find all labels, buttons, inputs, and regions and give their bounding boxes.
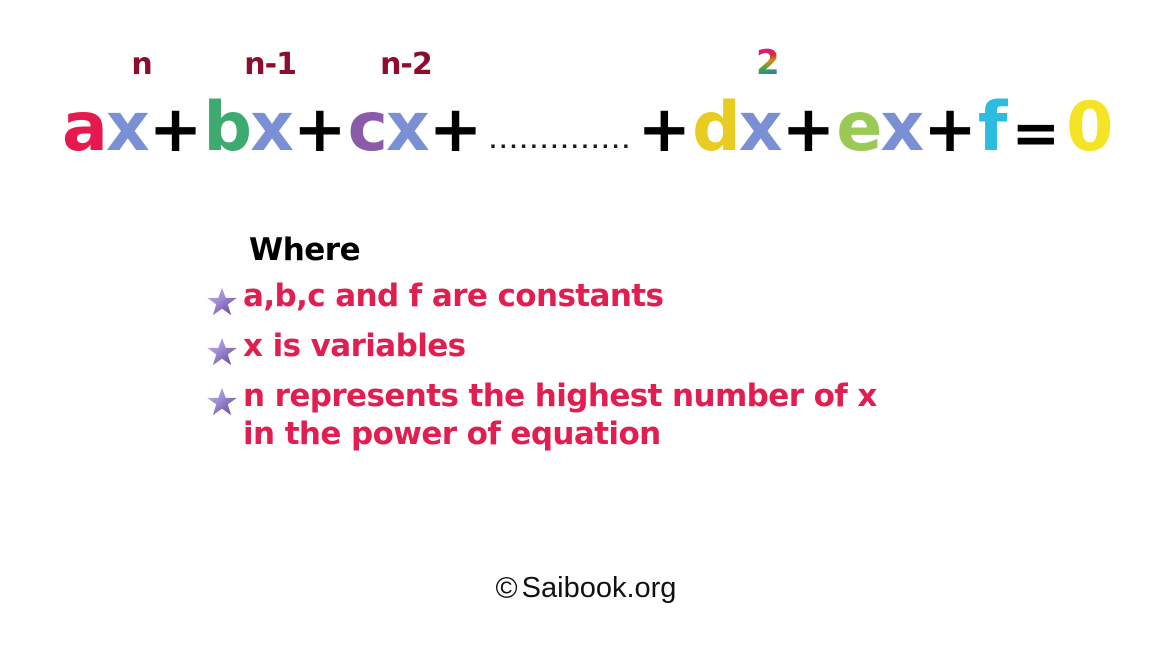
variable-x-4: x: [739, 94, 781, 162]
exponent-n-minus-1: n-1: [244, 50, 296, 80]
star-bullet-icon: [205, 335, 239, 369]
equation-term-3: cx n-2: [348, 94, 428, 162]
coefficient-a: a: [62, 94, 106, 162]
ellipsis-dots: ..............: [489, 133, 632, 152]
exponent-n: n: [131, 50, 151, 80]
operator-plus-3: +: [428, 98, 484, 162]
list-item-label: n represents the highest number of x in …: [243, 378, 877, 454]
list-item: a,b,c and f are constants: [205, 278, 1085, 319]
where-definitions-block: Where a,b,c and f are constants: [205, 232, 1085, 454]
equation-term-5: ex: [836, 94, 922, 162]
operator-equals: =: [1005, 104, 1066, 162]
coefficient-d: d: [692, 94, 739, 162]
equation-term-2: bx n-1: [203, 94, 292, 162]
polynomial-equation: ax n + bx n-1 + cx n-2 + .............. …: [62, 52, 1142, 162]
star-bullet-icon: [205, 385, 239, 419]
variable-x-1: x: [106, 94, 148, 162]
coefficient-b: b: [203, 94, 250, 162]
coefficient-f: f: [978, 94, 1006, 162]
equation-term-4: dx 2: [692, 94, 781, 162]
list-item-label: x is variables: [243, 328, 466, 366]
operator-plus-2: +: [292, 98, 348, 162]
operator-plus-6: +: [922, 98, 978, 162]
operator-plus-1: +: [148, 98, 204, 162]
list-item: x is variables: [205, 328, 1085, 369]
copyright-icon: ©: [496, 572, 518, 605]
variable-x-5: x: [880, 94, 922, 162]
equation-term-1: ax n: [62, 94, 148, 162]
star-bullet-icon: [205, 285, 239, 319]
operator-plus-5: +: [781, 98, 837, 162]
footer-text: Saibook.org: [522, 572, 677, 604]
right-hand-side-zero: 0: [1066, 94, 1111, 162]
variable-x-2: x: [250, 94, 292, 162]
list-item: n represents the highest number of x in …: [205, 378, 1085, 454]
coefficient-e: e: [836, 94, 880, 162]
exponent-two: 2: [756, 46, 779, 80]
operator-plus-4: +: [636, 98, 692, 162]
exponent-n-minus-2: n-2: [380, 50, 432, 80]
where-heading: Where: [249, 232, 1085, 269]
variable-x-3: x: [386, 94, 428, 162]
coefficient-c: c: [348, 94, 386, 162]
list-item-label: a,b,c and f are constants: [243, 278, 663, 316]
equation-term-6: f: [978, 94, 1006, 162]
footer-credit: ©Saibook.org: [0, 572, 1172, 606]
